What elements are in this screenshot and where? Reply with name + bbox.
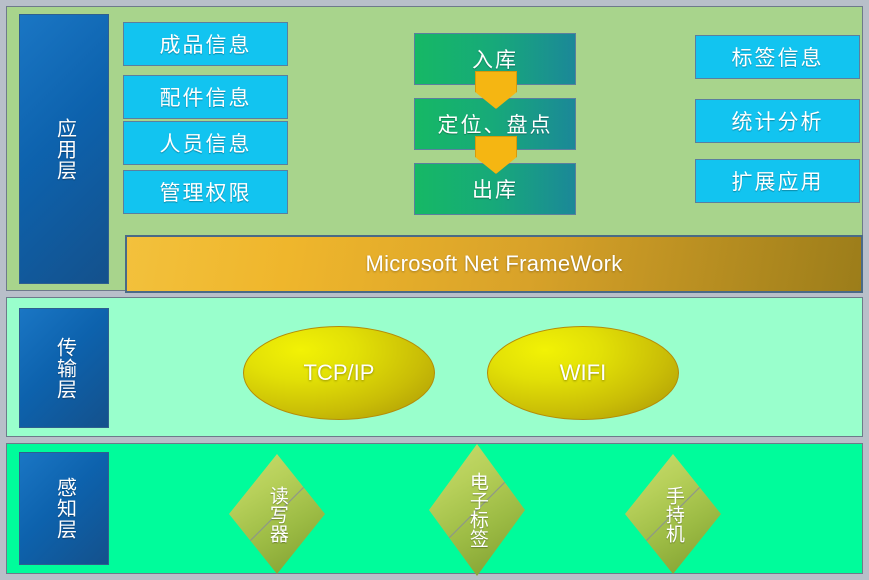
feature-box-tag-info[interactable]: 标签信息	[695, 35, 860, 79]
transport-layer-panel: 传输层 TCP/IP WIFI	[6, 297, 863, 437]
perception-layer-panel: 感知层 读写器 电子标签 手持机	[6, 443, 863, 574]
framework-bar-dotnet: Microsoft Net FrameWork	[125, 235, 863, 293]
transport-layer-label: 传输层	[19, 308, 109, 428]
feature-box-management-permissions[interactable]: 管理权限	[123, 170, 288, 214]
application-layer-label: 应用层	[19, 14, 109, 284]
device-diamond-reader[interactable]: 读写器	[229, 454, 325, 574]
feature-box-statistical-analysis[interactable]: 统计分析	[695, 99, 860, 143]
device-diamond-handheld[interactable]: 手持机	[625, 454, 721, 574]
device-diamond-reader-label: 读写器	[229, 454, 325, 574]
protocol-ellipse-wifi[interactable]: WIFI	[487, 326, 679, 420]
protocol-ellipse-tcpip[interactable]: TCP/IP	[243, 326, 435, 420]
device-diamond-electronic-tag-label: 电子标签	[429, 444, 525, 576]
perception-layer-label: 感知层	[19, 452, 109, 565]
device-diamond-handheld-label: 手持机	[625, 454, 721, 574]
architecture-diagram: 应用层 成品信息 配件信息 人员信息 管理权限 入库 定位、盘点 出库 标签信息…	[0, 0, 869, 580]
feature-box-parts-info[interactable]: 配件信息	[123, 75, 288, 119]
device-diamond-electronic-tag[interactable]: 电子标签	[429, 444, 525, 576]
feature-box-finished-product-info[interactable]: 成品信息	[123, 22, 288, 66]
feature-box-personnel-info[interactable]: 人员信息	[123, 121, 288, 165]
feature-box-extended-application[interactable]: 扩展应用	[695, 159, 860, 203]
application-layer-panel: 应用层 成品信息 配件信息 人员信息 管理权限 入库 定位、盘点 出库 标签信息…	[6, 6, 863, 291]
